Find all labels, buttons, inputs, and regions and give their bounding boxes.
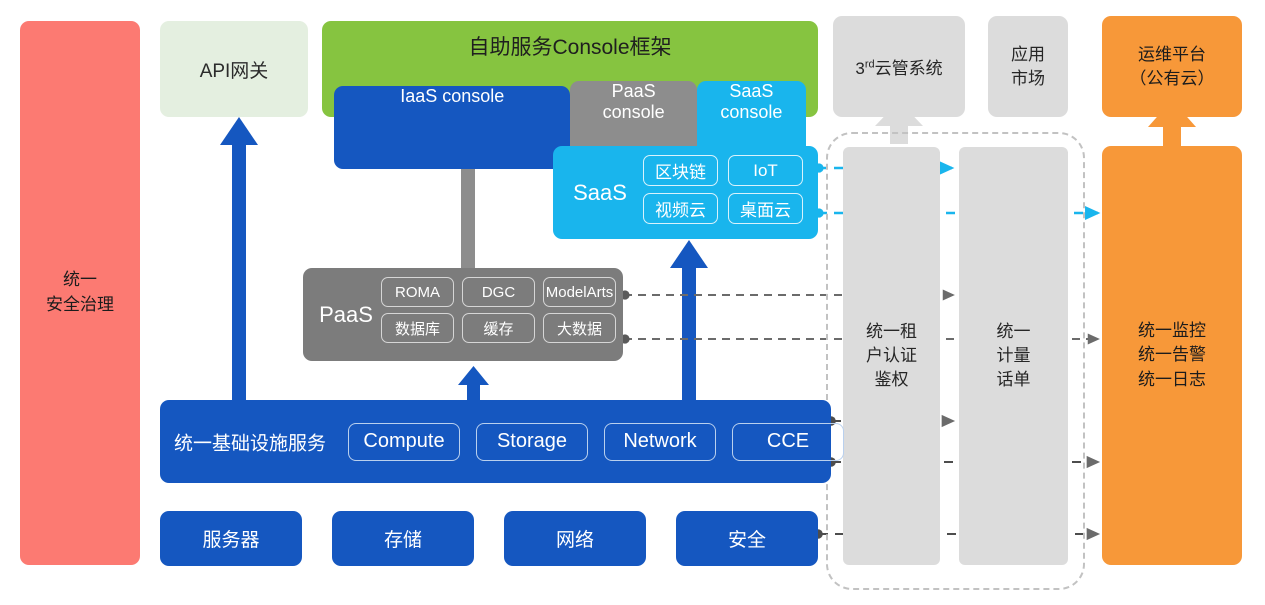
app-market-box[interactable]: 应用 市场: [988, 16, 1068, 117]
resource-box-network[interactable]: 网络: [504, 511, 646, 566]
ops-platform-header-box[interactable]: 运维平台 （公有云）: [1102, 16, 1242, 117]
console-frame-title: 自助服务Console框架: [322, 31, 818, 61]
ops-header-line2: （公有云）: [1130, 69, 1215, 88]
ops-header-line1: 运维平台: [1138, 45, 1206, 64]
third-party-prefix: 3: [855, 59, 864, 78]
unified-metering-line3: 话单: [997, 370, 1031, 389]
unified-auth-line1: 统一租: [866, 322, 917, 341]
paas-service-roma[interactable]: ROMA: [381, 277, 454, 307]
saas-service-desktop-cloud[interactable]: 桌面云: [728, 193, 803, 224]
unified-auth-line2: 户认证: [866, 346, 917, 365]
iaas-service-compute[interactable]: Compute: [348, 423, 460, 461]
governance-line2: 安全治理: [46, 295, 114, 314]
paas-service-dgc[interactable]: DGC: [462, 277, 535, 307]
unified-security-governance-panel[interactable]: 统一 安全治理: [20, 21, 140, 565]
app-market-line1: 应用: [1011, 45, 1045, 64]
iaas-service-network[interactable]: Network: [604, 423, 716, 461]
resource-box-server[interactable]: 服务器: [160, 511, 302, 566]
iaas-service-group: Compute Storage Network CCE: [348, 423, 844, 461]
third-party-suffix: 云管系统: [875, 59, 943, 78]
paas-service-bigdata[interactable]: 大数据: [543, 313, 616, 343]
paas-service-grid: ROMA DGC ModelArts 数据库 缓存 大数据: [381, 277, 616, 343]
unified-metering-line1: 统一: [997, 322, 1031, 341]
paas-service-database[interactable]: 数据库: [381, 313, 454, 343]
api-gateway-label: API网关: [200, 56, 269, 83]
iaas-service-storage[interactable]: Storage: [476, 423, 588, 461]
saas-service-video-cloud[interactable]: 视频云: [643, 193, 718, 224]
saas-service-grid: 区块链 IoT 视频云 桌面云: [643, 155, 803, 224]
ops-body-line2: 统一告警: [1138, 345, 1206, 364]
saas-service-iot[interactable]: IoT: [728, 155, 803, 186]
iaas-service-cce[interactable]: CCE: [732, 423, 844, 461]
paas-service-cache[interactable]: 缓存: [462, 313, 535, 343]
ops-platform-body-box[interactable]: 统一监控 统一告警 统一日志: [1102, 146, 1242, 565]
resource-box-security[interactable]: 安全: [676, 511, 818, 566]
paas-service-modelarts[interactable]: ModelArts: [543, 277, 616, 307]
ops-body-line3: 统一日志: [1138, 370, 1206, 389]
governance-line1: 统一: [63, 270, 97, 289]
paas-layer-label: PaaS: [309, 302, 383, 328]
saas-service-blockchain[interactable]: 区块链: [643, 155, 718, 186]
arrow-iaas-to-paas: [458, 366, 489, 402]
resource-label-storage: 存储: [384, 525, 422, 552]
third-party-sup: rd: [865, 58, 875, 70]
shared-service-unified-metering[interactable]: 统一 计量 话单: [959, 147, 1068, 565]
unified-auth-line3: 鉴权: [875, 370, 909, 389]
unified-metering-line2: 计量: [997, 346, 1031, 365]
arrow-iaas-to-api-gateway: [220, 117, 258, 402]
iaas-layer-label: 统一基础设施服务: [174, 428, 326, 455]
shared-service-unified-auth[interactable]: 统一租 户认证 鉴权: [843, 147, 940, 565]
architecture-diagram: 统一租 户认证 鉴权 统一 计量 话单 统一 安全治理 API网关 自助服务Co…: [0, 0, 1265, 605]
api-gateway-box[interactable]: API网关: [160, 21, 308, 117]
resource-label-server: 服务器: [202, 525, 259, 552]
ops-body-line1: 统一监控: [1138, 321, 1206, 340]
unified-infrastructure-service-box[interactable]: 统一基础设施服务 Compute Storage Network CCE: [160, 400, 831, 483]
resource-label-security: 安全: [728, 525, 766, 552]
arrow-iaas-to-saas: [670, 240, 708, 402]
app-market-line2: 市场: [1011, 69, 1045, 88]
self-service-console-frame[interactable]: 自助服务Console框架 IaaS console PaaS console …: [322, 21, 818, 117]
saas-layer-box[interactable]: SaaS 区块链 IoT 视频云 桌面云: [553, 146, 818, 239]
saas-layer-label: SaaS: [563, 180, 637, 206]
resource-box-storage[interactable]: 存储: [332, 511, 474, 566]
iaas-console-pill[interactable]: IaaS console: [334, 86, 570, 169]
paas-layer-box[interactable]: PaaS ROMA DGC ModelArts 数据库 缓存 大数据: [303, 268, 623, 361]
resource-label-network: 网络: [556, 525, 594, 552]
third-party-cloud-mgmt-box[interactable]: 3rd云管系统: [833, 16, 965, 117]
